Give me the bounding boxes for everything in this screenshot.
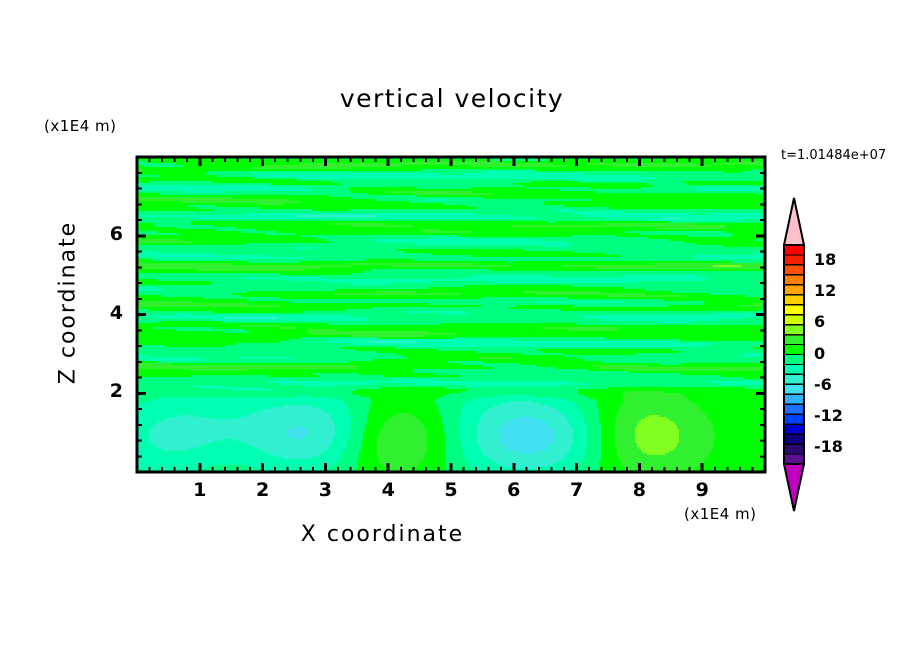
colorbar-tick-label: 12 — [814, 281, 836, 300]
x-tick-label: 7 — [557, 479, 597, 501]
colorbar-tick-label: 6 — [814, 312, 825, 331]
y-tick-label: 4 — [91, 302, 123, 324]
contour-field — [137, 157, 766, 474]
x-tick-label: 2 — [243, 479, 283, 501]
colorbar-tick-label: -6 — [814, 375, 832, 394]
x-tick-label: 1 — [180, 479, 220, 501]
x-tick-label: 6 — [494, 479, 534, 501]
x-tick-label: 8 — [619, 479, 659, 501]
y-tick-label: 6 — [91, 223, 123, 245]
y-tick-label: 2 — [91, 380, 123, 402]
colorbar-tick-label: 0 — [814, 344, 825, 363]
colorbar — [784, 198, 804, 511]
x-tick-label: 4 — [368, 479, 408, 501]
colorbar-tick-label: -18 — [814, 437, 843, 456]
x-tick-label: 5 — [431, 479, 471, 501]
figure-canvas: { "figure": { "title": "vertical velocit… — [0, 0, 904, 654]
x-tick-label: 9 — [682, 479, 722, 501]
colorbar-tick-label: 18 — [814, 250, 836, 269]
contour-plot — [0, 0, 904, 654]
colorbar-tick-label: -12 — [814, 406, 843, 425]
x-tick-label: 3 — [305, 479, 345, 501]
